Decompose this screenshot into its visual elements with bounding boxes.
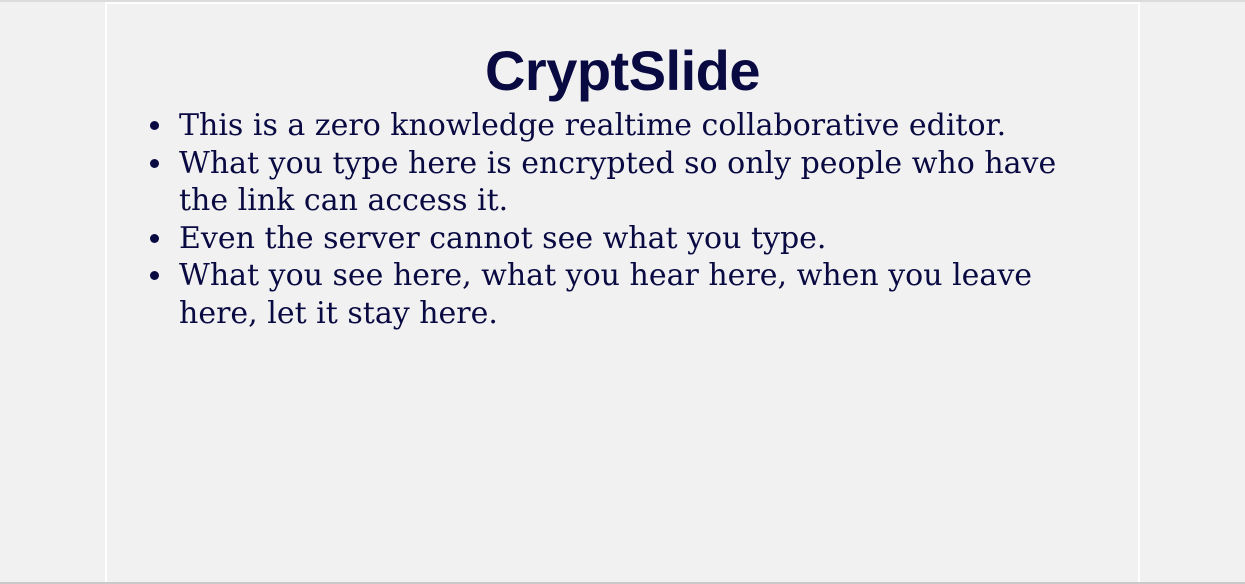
slide-viewer: CryptSlide This is a zero knowledge real… (0, 0, 1245, 584)
bullet-text: What you type here is encrypted so only … (179, 145, 1094, 220)
left-gutter (0, 2, 105, 582)
bullet-dot-icon (150, 121, 159, 130)
list-item[interactable]: This is a zero knowledge realtime collab… (147, 107, 1094, 145)
slide-title: CryptSlide (107, 4, 1138, 99)
slide-surface[interactable]: CryptSlide This is a zero knowledge real… (105, 2, 1140, 582)
slide-bullet-list: This is a zero knowledge realtime collab… (107, 107, 1138, 333)
list-item[interactable]: What you see here, what you hear here, w… (147, 257, 1094, 332)
bullet-text: What you see here, what you hear here, w… (179, 257, 1094, 332)
right-gutter (1140, 2, 1245, 582)
bullet-text: Even the server cannot see what you type… (179, 220, 1094, 258)
bullet-dot-icon (150, 159, 159, 168)
list-item[interactable]: Even the server cannot see what you type… (147, 220, 1094, 258)
bullet-dot-icon (150, 234, 159, 243)
list-item[interactable]: What you type here is encrypted so only … (147, 145, 1094, 220)
bullet-text: This is a zero knowledge realtime collab… (179, 107, 1094, 145)
bullet-dot-icon (150, 271, 159, 280)
